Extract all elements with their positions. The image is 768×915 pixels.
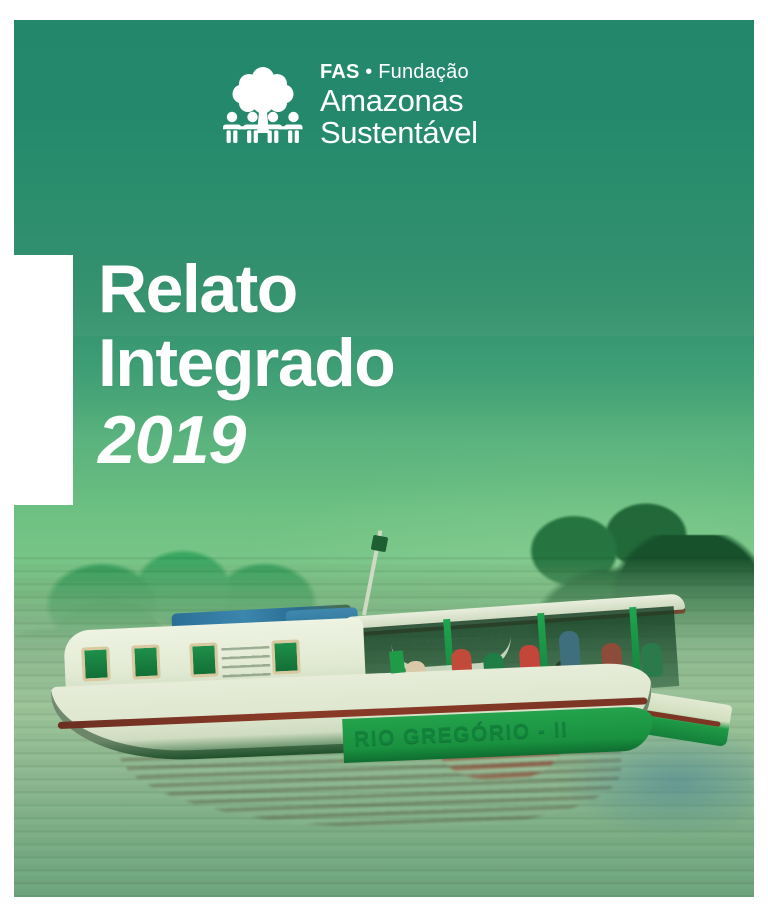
logo-line-amazonas: Amazonas — [320, 85, 478, 116]
title-line-integrado: Integrado — [98, 326, 394, 400]
white-accent-block — [14, 255, 73, 505]
logo-fundacao-text: • Fundação — [360, 61, 469, 83]
title-year: 2019 — [98, 402, 394, 478]
cover-title: Relato Integrado 2019 — [98, 252, 394, 478]
logo-wordmark: FAS • Fundação Amazonas Sustentável — [320, 62, 478, 148]
boat-flag — [389, 650, 405, 673]
boat-mast-lamp — [371, 535, 389, 553]
report-cover-page: RIO GREGÓRIO - II — [0, 0, 768, 915]
fas-logo: FAS • Fundação Amazonas Sustentável — [220, 62, 478, 148]
logo-line-sustentavel: Sustentável — [320, 117, 478, 148]
logo-line-fas-fundacao: FAS • Fundação — [320, 62, 478, 82]
boat-window — [81, 646, 111, 681]
title-line-relato: Relato — [98, 252, 394, 326]
logo-fas-abbr: FAS — [320, 61, 360, 83]
boat-window — [271, 639, 301, 674]
cover-canvas: RIO GREGÓRIO - II — [14, 20, 754, 897]
boat-window — [131, 644, 161, 679]
tree-and-people-icon — [220, 63, 306, 147]
boat-window — [189, 642, 219, 677]
riverboat: RIO GREGÓRIO - II — [54, 555, 694, 765]
boat-cabin-inscription — [221, 646, 270, 678]
